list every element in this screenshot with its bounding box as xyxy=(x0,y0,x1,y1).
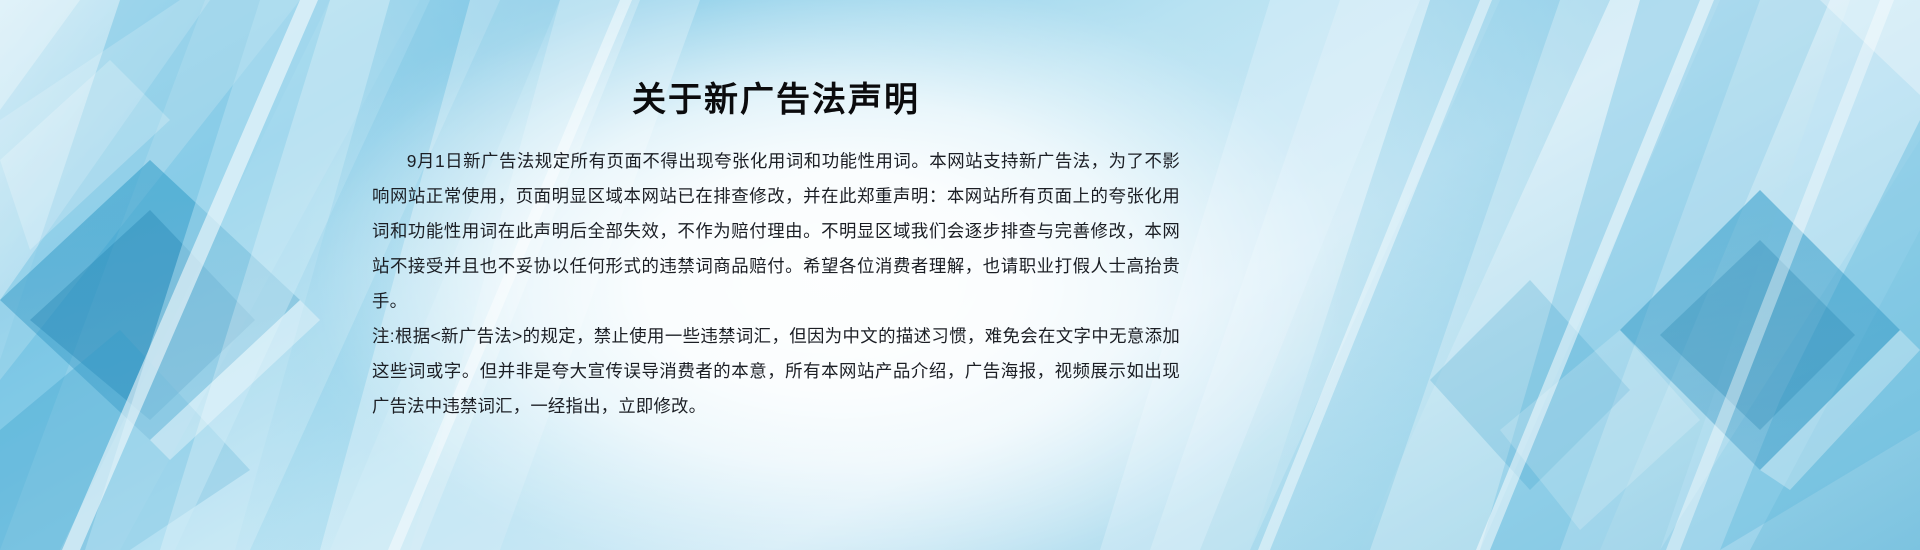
statement-content: 关于新广告法声明 9月1日新广告法规定所有页面不得出现夸张化用词和功能性用词。本… xyxy=(372,78,1180,424)
statement-paragraph-2: 注:根据<新广告法>的规定，禁止使用一些违禁词汇，但因为中文的描述习惯，难免会在… xyxy=(372,319,1180,424)
statement-paragraph-1: 9月1日新广告法规定所有页面不得出现夸张化用词和功能性用词。本网站支持新广告法，… xyxy=(372,144,1180,319)
advertising-law-statement-banner: 关于新广告法声明 9月1日新广告法规定所有页面不得出现夸张化用词和功能性用词。本… xyxy=(0,0,1920,550)
page-title: 关于新广告法声明 xyxy=(372,78,1180,122)
